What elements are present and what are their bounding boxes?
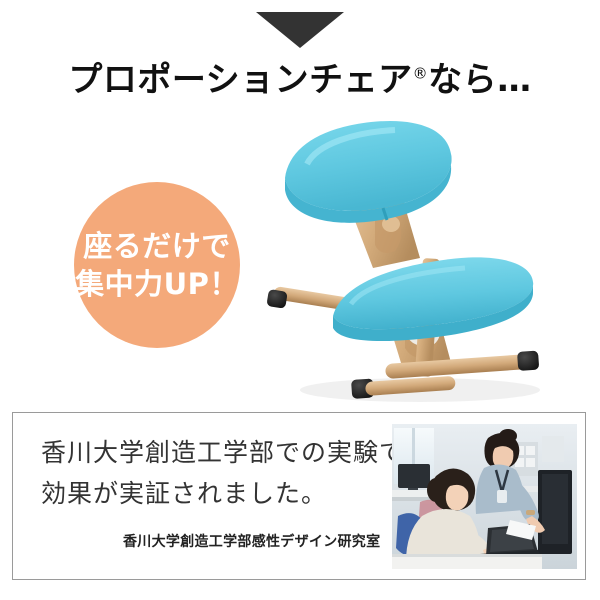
headline-suffix: なら… xyxy=(428,60,532,100)
badge-line-2: 集中力UP！ xyxy=(75,265,239,303)
chair-foot-cap-left xyxy=(266,289,287,309)
testimonial-text: 香川大学創造工学部での実験で 効果が実証されました。 xyxy=(41,433,386,514)
badge-line-1: 座るだけで xyxy=(83,227,231,265)
testimonial-line-1: 香川大学創造工学部での実験で xyxy=(41,433,386,474)
advertisement-page: プロポーションチェア®なら… xyxy=(0,0,600,600)
product-image xyxy=(255,108,545,408)
chair-foot-cap-right xyxy=(517,351,539,371)
chair-seat-pad xyxy=(285,121,451,223)
triangle-down-icon xyxy=(256,12,344,48)
registered-mark-icon: ® xyxy=(413,65,429,83)
highlight-badge: 座るだけで 集中力UP！ xyxy=(74,182,240,348)
testimonial-box: 香川大学創造工学部での実験で 効果が実証されました。 香川大学創造工学部感性デザ… xyxy=(12,412,586,580)
headline-prefix: プロポーションチェア xyxy=(68,60,412,100)
office-experiment-photo xyxy=(392,424,577,569)
testimonial-line-2: 効果が実証されました。 xyxy=(41,474,386,515)
page-title: プロポーションチェア®なら… xyxy=(0,52,600,101)
chair-knee-pad xyxy=(333,257,533,341)
testimonial-credit: 香川大学創造工学部感性デザイン研究室 xyxy=(123,531,380,551)
